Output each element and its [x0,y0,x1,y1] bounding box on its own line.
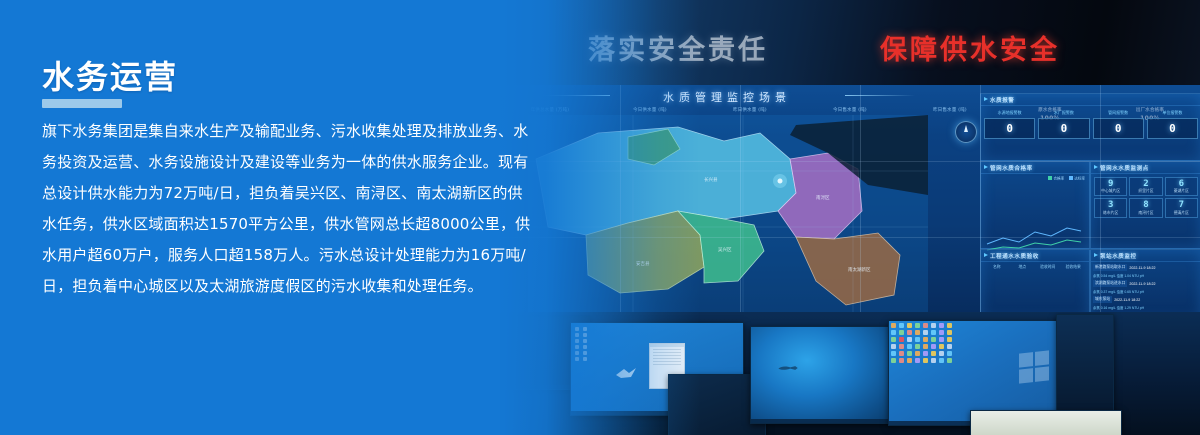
monitor-point-cell: 6 菱湖片区 [1165,177,1198,196]
acceptance-col: 验收结果 [1061,265,1087,270]
desktop-icon[interactable] [931,351,936,356]
desktop-icon[interactable] [947,351,952,356]
desktop-icon[interactable] [947,344,952,349]
kpi-label: 今日售水量 (吨) [833,108,867,113]
acceptance-header: 名称 地点 验收时间 验收结果 [984,264,1086,271]
alarm-value: 0 [1038,118,1089,139]
point-zone: 德清片区 [1166,211,1197,216]
desktop-icon[interactable] [923,344,928,349]
alarm-cell: 单位报警数 0 [1147,110,1198,139]
desktop-icon[interactable] [915,337,920,342]
desktop-icon[interactable] [899,323,904,328]
panel-station-monitor: 泵站水质监控 新港路泵站取水口 2022-11-9 18:22 余氯 0.54 … [1090,249,1200,315]
acceptance-col: 地点 [1010,265,1036,270]
desktop-icon[interactable] [931,344,936,349]
body-paragraph: 旗下水务集团是集自来水生产及输配业务、污水收集处理及排放业务、水务投资及运营、水… [42,116,534,302]
station-time: 2022-11-9 18:22 [1129,282,1155,286]
desktop-icon[interactable] [923,323,928,328]
desktop-icon[interactable] [907,323,912,328]
station-log-row: 余氯 0.54 mg/L 浊度 1.04 NTU pH [1093,273,1199,278]
desktop-icon[interactable] [939,344,944,349]
point-zone: 练市片区 [1095,211,1126,216]
station-values: 余氯 0.16 mg/L 浊度 1.29 NTU pH [1093,305,1199,310]
map-label: 吴兴区 [718,246,732,253]
station-name: 城东泵站 [1093,296,1112,303]
spreadsheet-laptop [970,410,1122,435]
station-values: 余氯 0.54 mg/L 浊度 1.04 NTU pH [1093,273,1199,278]
side-monitor [1056,314,1114,424]
station-name: 滨湖路泵站进水口 [1093,280,1127,287]
panel-title: 管网水水质监测点 [1091,162,1200,174]
point-zone: 中心城片区 [1095,189,1126,194]
desktop-icon[interactable] [907,337,912,342]
desktop-icon[interactable] [915,351,920,356]
desktop-icon-field [891,323,953,363]
station-log-row: 余氯 0.37 mg/L 浊度 0.65 NTU pH [1093,289,1199,294]
alarm-row: 水源地报警数 0 水厂报警数 0 管网报警数 0 单位报警数 [981,106,1200,143]
desktop-icon[interactable] [931,330,936,335]
alarm-value: 0 [1093,118,1144,139]
alarm-cell: 水厂报警数 0 [1038,110,1089,139]
station-time: 2022-11-9 18:22 [1114,298,1140,302]
map-label: 长兴县 [704,176,718,183]
alarm-label: 水厂报警数 [1038,110,1089,116]
desktop-icon[interactable] [923,358,928,363]
dashboard-panels: 水质报警 水源地报警数 0 水厂报警数 0 管网报警数 0 [980,93,1200,315]
panel-monitor-points: 管网水水质监测点 9 中心城片区 2 织里片区 6 菱湖片区 [1090,161,1200,249]
page-title: 水务运营 [42,52,178,98]
desktop-icon[interactable] [947,337,952,342]
desktop-icon[interactable] [939,351,944,356]
desktop-icon[interactable] [891,323,896,328]
station-log-row: 余氯 0.16 mg/L 浊度 1.29 NTU pH [1093,305,1199,310]
monitor-point-cell: 3 练市片区 [1094,198,1127,217]
water-operations-banner: 落实安全责任 保障供水安全 水质管理监控场景 年供总水量 (万吨) 今日供水量 … [0,0,1200,435]
station-log-row: 新港路泵站取水口 2022-11-9 18:22 [1093,264,1199,271]
map-marker [778,179,783,184]
station-time: 2022-11-9 18:22 [1129,266,1155,270]
diver-silhouette-icon [776,363,802,373]
taskbar [751,419,891,423]
desktop-icon[interactable] [891,351,896,356]
legend-label: 合格率 [1053,177,1064,181]
desktop-icon[interactable] [931,337,936,342]
desktop-icon[interactable] [923,351,928,356]
alarm-cell: 水源地报警数 0 [984,110,1035,139]
panel-title: 管网水质合格率 [981,162,1089,174]
desktop-icon[interactable] [947,330,952,335]
desktop-icon[interactable] [915,344,920,349]
desktop-icon[interactable] [915,358,920,363]
desktop-icon[interactable] [907,344,912,349]
map-label: 南太湖新区 [848,266,871,273]
alarm-cell: 管网报警数 0 [1093,110,1144,139]
alarm-label: 管网报警数 [1093,110,1144,116]
desktop-icon[interactable] [891,330,896,335]
desktop-icon[interactable] [931,358,936,363]
station-log-row: 城东泵站 2022-11-9 18:22 [1093,296,1199,303]
text-content: 水务运营 旗下水务集团是集自来水生产及输配业务、污水收集处理及排放业务、水务投资… [0,0,560,435]
kpi-label: 昨日售水量 (吨) [933,108,967,113]
compass-icon [955,121,977,143]
alarm-value: 0 [984,118,1035,139]
desktop-icon[interactable] [939,323,944,328]
desktop-icon[interactable] [947,323,952,328]
station-values: 余氯 0.37 mg/L 浊度 0.65 NTU pH [1093,289,1199,294]
desktop-icon[interactable] [907,351,912,356]
diver-wallpaper-monitor [750,326,892,424]
alarm-value: 0 [1147,118,1198,139]
monitor-point-cell: 8 南浔片区 [1129,198,1162,217]
desktop-icon[interactable] [899,351,904,356]
map-label: 南浔区 [816,194,830,201]
desktop-icon[interactable] [899,358,904,363]
slogan-right: 保障供水安全 [880,28,1060,67]
desktop-icon[interactable] [915,330,920,335]
desktop-icon[interactable] [907,330,912,335]
desktop-icon[interactable] [939,358,944,363]
station-log-row: 滨湖路泵站进水口 2022-11-9 18:22 [1093,280,1199,287]
rate-chart: 合格率 达标率 [981,174,1089,260]
point-count: 7 [1166,201,1197,210]
panel-title: 工程通水水质验收 [981,250,1089,262]
panel-network-quality-rate: 管网水质合格率 合格率 达标率 [980,161,1090,249]
desktop-icon[interactable] [939,330,944,335]
desktop-icon[interactable] [899,330,904,335]
desktop-icon[interactable] [899,337,904,342]
desktop-icon[interactable] [907,358,912,363]
point-zone: 织里片区 [1130,189,1161,194]
panel-title: 水质报警 [981,94,1200,106]
kpi-label: 昨日供水量 (吨) [733,108,767,113]
desktop-icon[interactable] [923,330,928,335]
alarm-label: 单位报警数 [1147,110,1198,116]
acceptance-col: 验收时间 [1035,265,1061,270]
desktop-icon[interactable] [891,337,896,342]
panel-acceptance: 工程通水水质验收 名称 地点 验收时间 验收结果 [980,249,1090,315]
point-zone: 南浔片区 [1130,211,1161,216]
monitor-point-cell: 9 中心城片区 [1094,177,1127,196]
title-underline [42,99,122,108]
panel-title: 泵站水质监控 [1091,250,1200,262]
windows-logo-icon [1019,351,1049,384]
desktop-icon[interactable] [923,337,928,342]
legend-label: 达标率 [1074,177,1085,181]
station-log-list: 新港路泵站取水口 2022-11-9 18:22 余氯 0.54 mg/L 浊度… [1091,262,1200,314]
desktop-icon[interactable] [899,344,904,349]
panel-water-alarm: 水质报警 水源地报警数 0 水厂报警数 0 管网报警数 0 [980,93,1200,161]
desktop-icon[interactable] [915,323,920,328]
alarm-label: 水源地报警数 [984,110,1035,116]
rate-legend: 合格率 达标率 [1044,176,1085,182]
station-name: 新港路泵站取水口 [1093,264,1127,271]
desktop-icon[interactable] [891,344,896,349]
desktop-icon[interactable] [891,358,896,363]
point-count: 8 [1130,201,1161,210]
monitor-point-grid: 9 中心城片区 2 织里片区 6 菱湖片区 3 [1091,174,1200,221]
point-zone: 菱湖片区 [1166,189,1197,194]
desktop-icon[interactable] [931,323,936,328]
desktop-icon[interactable] [947,358,952,363]
acceptance-table: 名称 地点 验收时间 验收结果 [981,262,1089,273]
monitor-point-cell: 7 德清片区 [1165,198,1198,217]
monitor-point-cell: 2 织里片区 [1129,177,1162,196]
desktop-icon[interactable] [939,337,944,342]
acceptance-col: 名称 [984,265,1010,270]
point-count: 3 [1095,201,1126,210]
